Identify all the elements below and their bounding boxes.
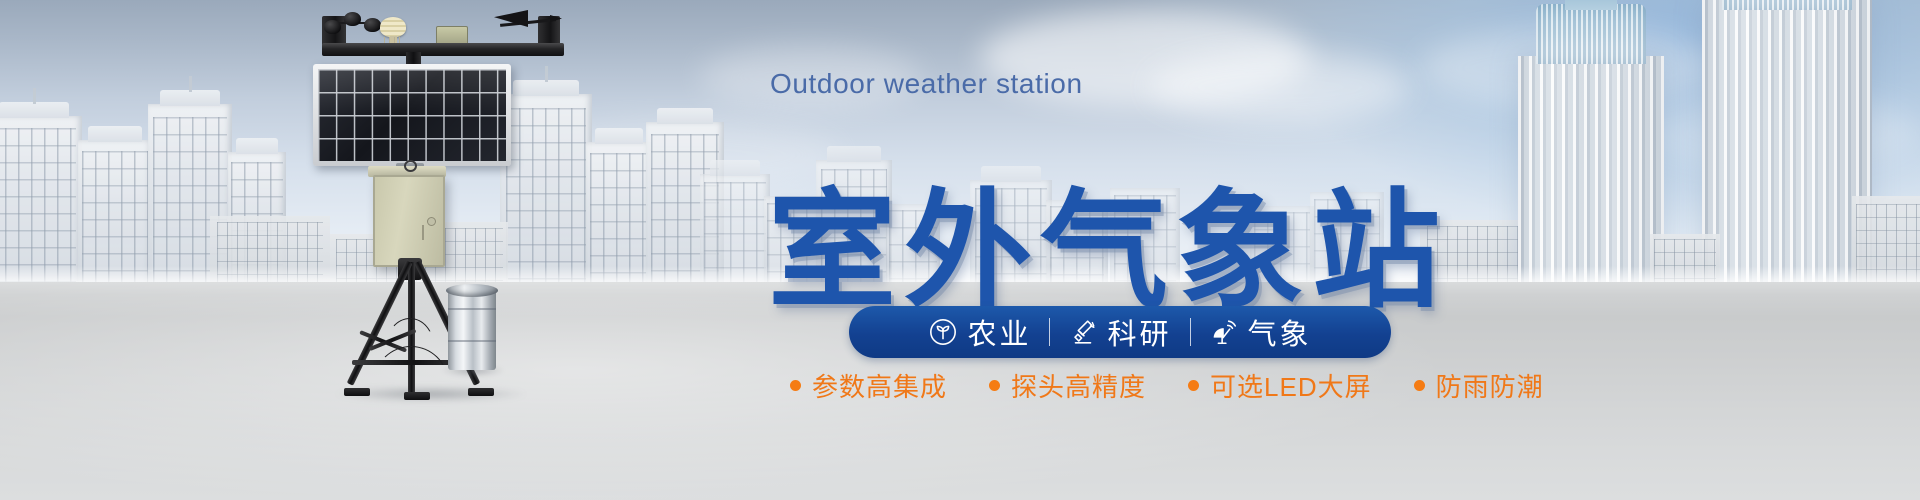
anemometer-cup: [344, 12, 361, 26]
satellite-dish-icon: [1209, 317, 1239, 347]
pill-item-meteorology[interactable]: 气象: [1191, 311, 1330, 353]
sprout-circle-icon: [928, 317, 958, 347]
feature-label: 探头高精度: [1011, 367, 1146, 404]
cabinet-hinge: [422, 225, 424, 240]
application-pill-badge: 农业 科研 气象: [849, 306, 1391, 358]
sensor-cable: [374, 346, 448, 382]
tripod-foot: [344, 388, 370, 396]
pill-item-agriculture[interactable]: 农业: [910, 311, 1049, 353]
solar-cells: [318, 69, 506, 161]
feature-item: 可选LED大屏: [1188, 367, 1372, 404]
pill-item-research[interactable]: 科研: [1050, 311, 1189, 353]
tripod-foot: [468, 388, 494, 396]
bullet-dot-icon: [790, 380, 801, 391]
subtitle-english: Outdoor weather station: [770, 68, 1083, 100]
sensor-cable: [386, 318, 434, 346]
feature-item: 参数高集成: [790, 367, 947, 404]
office-tower: [1702, 0, 1872, 292]
rain-gauge-rim: [446, 284, 498, 297]
bullet-dot-icon: [989, 380, 1000, 391]
page-title: 室外气象站: [768, 184, 1448, 320]
feature-label: 可选LED大屏: [1210, 367, 1372, 404]
product-banner: Outdoor weather station 室外气象站 农业 科研: [0, 0, 1920, 500]
pill-label: 科研: [1107, 311, 1171, 353]
pill-label: 农业: [967, 311, 1031, 353]
cross-arm: [322, 43, 564, 56]
feature-label: 参数高集成: [812, 367, 947, 404]
office-tower: [1518, 56, 1664, 292]
pill-label: 气象: [1248, 311, 1312, 353]
rain-gauge: [448, 288, 496, 370]
control-cabinet: [373, 175, 445, 267]
radiation-shield-icon: [380, 17, 406, 37]
anemometer-cup: [324, 20, 341, 34]
microscope-icon: [1068, 317, 1098, 347]
cabinet-eyelet: [404, 160, 417, 172]
solar-panel: [313, 64, 511, 166]
tripod-foot: [404, 392, 430, 400]
feature-list: 参数高集成 探头高精度 可选LED大屏 防雨防潮: [790, 367, 1544, 404]
feature-item: 探头高精度: [989, 367, 1146, 404]
bullet-dot-icon: [1188, 380, 1199, 391]
feature-item: 防雨防潮: [1414, 367, 1544, 404]
weather-station-product: [300, 0, 630, 420]
bullet-dot-icon: [1414, 380, 1425, 391]
right-skyline: [1400, 0, 1920, 292]
feature-label: 防雨防潮: [1436, 367, 1544, 404]
cabinet-lock-icon: [427, 217, 436, 226]
anemometer-cup: [364, 18, 381, 32]
